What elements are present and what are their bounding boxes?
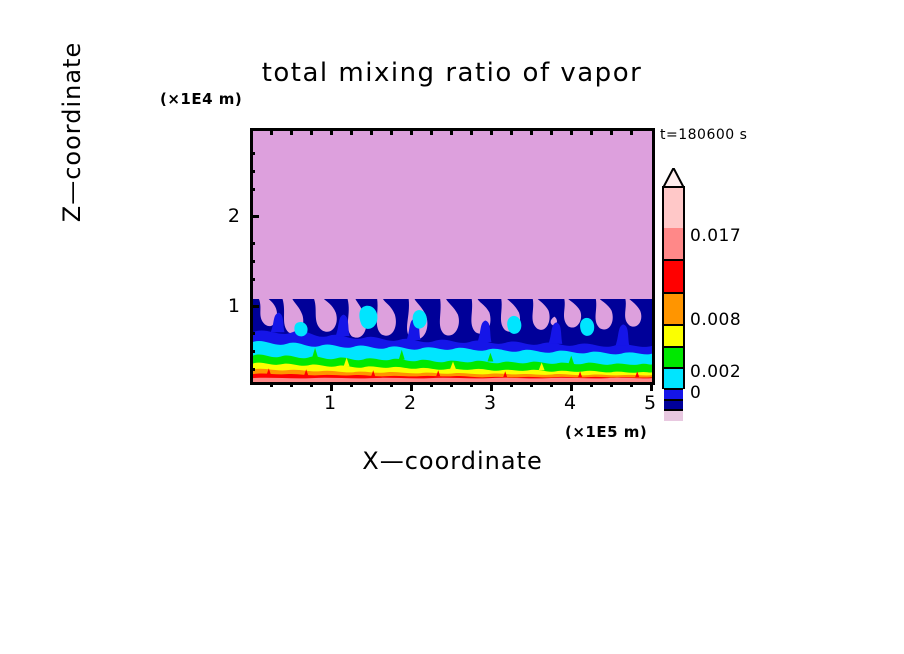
- x-tick-major-1: [330, 382, 333, 391]
- y-tick-minor: [250, 152, 255, 155]
- x-tick-label-1: 1: [319, 392, 341, 414]
- x-tick-major-5: [650, 382, 653, 391]
- colorbar-band-8: [664, 228, 683, 261]
- x-tick-top: [530, 128, 533, 135]
- x-tick-top: [590, 128, 593, 135]
- y-tick-major-2: [250, 215, 259, 218]
- x-tick-top: [330, 128, 333, 135]
- x-tick-minor: [590, 382, 593, 387]
- x-tick-major-3: [490, 382, 493, 391]
- x-tick-top: [390, 128, 393, 135]
- colorbar-band-1: [664, 401, 683, 411]
- colorbar-label-0017: 0.017: [690, 226, 741, 246]
- x-tick-top: [310, 128, 313, 135]
- time-annotation: t=180600 s: [660, 127, 747, 143]
- x-tick-top: [570, 128, 573, 135]
- x-tick-minor: [610, 382, 613, 387]
- y-axis-title: Z—coordinate: [58, 2, 86, 262]
- x-tick-top: [290, 128, 293, 135]
- plot-area: [250, 128, 655, 385]
- colorbar-band-4: [664, 348, 683, 369]
- x-axis-title: X—coordinate: [250, 447, 655, 475]
- colorbar-band-3: [664, 369, 683, 390]
- colorbar-band-9: [664, 188, 683, 228]
- x-tick-top: [430, 128, 433, 135]
- y-tick-minor: [250, 260, 255, 263]
- colorbar-band-6: [664, 294, 683, 326]
- x-tick-label-2: 2: [399, 392, 421, 414]
- y-axis-unit-label: (×1E4 m): [160, 90, 242, 108]
- x-tick-top: [630, 128, 633, 135]
- colorbar: [662, 186, 685, 389]
- x-tick-minor: [350, 382, 353, 387]
- y-tick-label-1: 1: [218, 295, 240, 317]
- colorbar-arrow-tip: [662, 168, 685, 188]
- x-tick-major-4: [570, 382, 573, 391]
- x-tick-minor: [470, 382, 473, 387]
- y-tick-minor: [250, 332, 255, 335]
- colorbar-label-0008: 0.008: [690, 310, 741, 330]
- x-tick-top: [550, 128, 553, 135]
- x-tick-top: [350, 128, 353, 135]
- x-tick-minor: [270, 382, 273, 387]
- colorbar-band-7: [664, 261, 683, 294]
- x-tick-minor: [630, 382, 633, 387]
- y-tick-minor: [250, 368, 255, 371]
- x-tick-minor: [450, 382, 453, 387]
- colorbar-label-0002: 0.002: [690, 362, 741, 382]
- colorbar-label-0: 0: [690, 383, 701, 403]
- x-tick-top: [370, 128, 373, 135]
- y-tick-minor: [250, 170, 255, 173]
- y-tick-label-2: 2: [218, 205, 240, 227]
- colorbar-band-2: [664, 390, 683, 401]
- x-tick-minor: [430, 382, 433, 387]
- colorbar-band-0: [664, 411, 683, 421]
- y-tick-minor: [250, 350, 255, 353]
- x-tick-top: [510, 128, 513, 135]
- x-tick-top: [270, 128, 273, 135]
- x-tick-label-3: 3: [479, 392, 501, 414]
- y-tick-minor: [250, 278, 255, 281]
- page-title: total mixing ratio of vapor: [0, 58, 904, 88]
- x-tick-top: [410, 128, 413, 135]
- y-tick-minor: [250, 188, 255, 191]
- x-tick-top: [490, 128, 493, 135]
- x-tick-minor: [390, 382, 393, 387]
- x-tick-minor: [310, 382, 313, 387]
- x-tick-top: [450, 128, 453, 135]
- x-axis-unit-label: (×1E5 m): [565, 423, 647, 441]
- y-tick-minor: [250, 242, 255, 245]
- x-tick-label-5: 5: [639, 392, 661, 414]
- x-tick-top: [470, 128, 473, 135]
- x-tick-major-2: [410, 382, 413, 391]
- y-tick-major-1: [250, 305, 259, 308]
- x-tick-minor: [510, 382, 513, 387]
- contour-field: [253, 131, 652, 382]
- x-tick-label-4: 4: [559, 392, 581, 414]
- x-tick-minor: [530, 382, 533, 387]
- x-tick-top: [610, 128, 613, 135]
- x-tick-minor: [370, 382, 373, 387]
- x-tick-minor: [290, 382, 293, 387]
- colorbar-band-5: [664, 326, 683, 348]
- x-tick-minor: [550, 382, 553, 387]
